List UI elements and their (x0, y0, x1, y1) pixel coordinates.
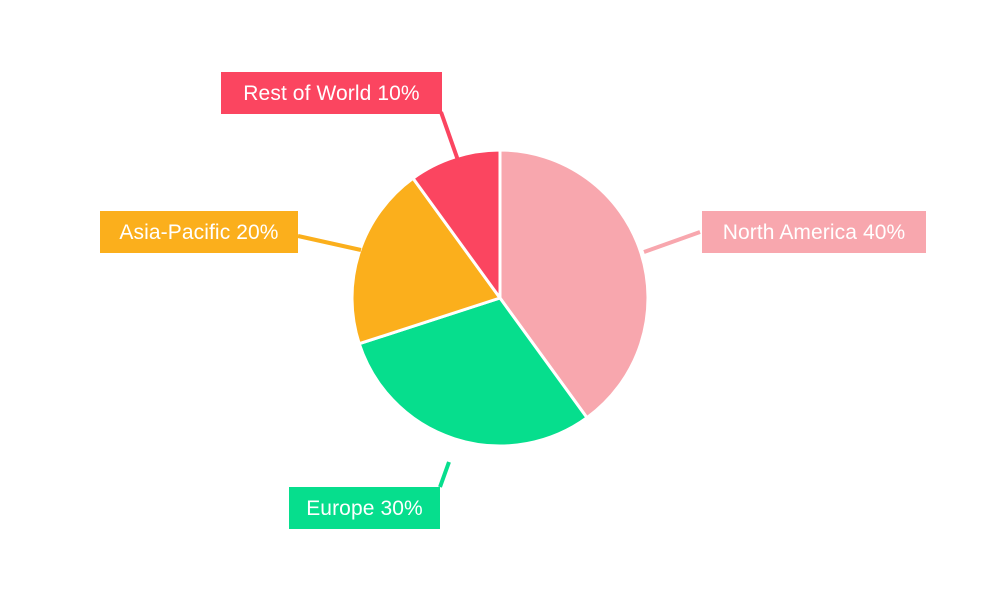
leader-line-europe (440, 462, 449, 487)
pie-label-text-asia-pacific: Asia-Pacific 20% (119, 222, 278, 243)
pie-label-asia-pacific: Asia-Pacific 20% (100, 211, 298, 253)
leader-line-north-america (644, 232, 700, 252)
pie-label-text-europe: Europe 30% (306, 498, 423, 519)
pie-label-text-rest-of-world: Rest of World 10% (243, 83, 419, 104)
pie-chart-figure: North America 40% Europe 30% Asia-Pacifi… (0, 0, 1000, 600)
pie-slices (352, 150, 648, 446)
leader-line-asia-pacific (298, 236, 361, 250)
pie-label-europe: Europe 30% (289, 487, 440, 529)
pie-label-rest-of-world: Rest of World 10% (221, 72, 442, 114)
pie-label-north-america: North America 40% (702, 211, 926, 253)
pie-label-text-north-america: North America 40% (723, 222, 906, 243)
pie-chart-canvas (0, 0, 1000, 600)
